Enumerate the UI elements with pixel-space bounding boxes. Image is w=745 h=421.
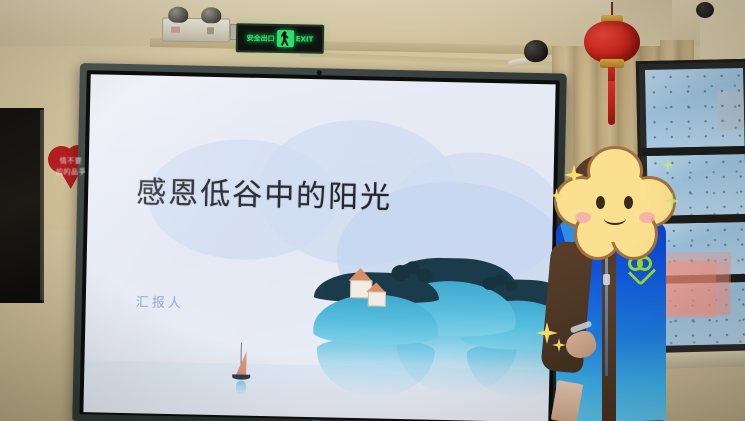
- window-view-building: [717, 90, 744, 131]
- left-panel-edge: [40, 110, 44, 300]
- slide-house-small: [366, 282, 386, 304]
- boat-hull: [232, 374, 250, 379]
- running-man-icon: [277, 30, 294, 47]
- vest-zipper-pull: [603, 274, 610, 285]
- boat-reflection: [236, 380, 246, 394]
- emergency-exit-sign: 安全出口 EXIT: [236, 23, 324, 54]
- emoji-cheek-left: [575, 212, 591, 223]
- emoji-cheek-right: [639, 212, 655, 223]
- slide-sailboat: [232, 342, 251, 388]
- flower-center: [577, 170, 653, 242]
- sparkle-icon: [662, 158, 674, 172]
- emergency-light-button: [207, 27, 214, 34]
- classroom-photo-scene: 情不要 的的品爭 安全出口 EXIT: [0, 0, 745, 421]
- window-pane-1: [645, 68, 745, 148]
- heart-sticker-line1: 情不要: [52, 156, 90, 167]
- presenter: [548, 146, 688, 421]
- display-screen[interactable]: · · · · · · ·: [83, 74, 555, 421]
- emoji-mouth: [604, 212, 626, 225]
- emergency-lamp-right: [201, 7, 221, 23]
- red-paper-lantern: [582, 2, 642, 132]
- ceiling-speaker: [696, 2, 714, 18]
- lantern-body: [584, 21, 640, 63]
- slide-title: 感恩低谷中的阳光: [136, 167, 393, 217]
- emergency-light-indicator: [171, 27, 180, 33]
- left-dark-panel: [0, 108, 44, 303]
- emoji-eye-left: [596, 196, 605, 209]
- exit-sign-english-text: EXIT: [296, 35, 314, 43]
- exit-sign-chinese-text: 安全出口: [247, 34, 275, 42]
- slide-subtitle: 汇报人: [136, 291, 184, 311]
- interactive-flat-panel[interactable]: · · · · · · ·: [72, 63, 567, 421]
- lantern-cord: [611, 2, 613, 16]
- flower-emoji-sticker: [554, 146, 676, 264]
- heart-sticker-line2: 的的品爭: [52, 167, 90, 178]
- display-camera-icon: [317, 70, 322, 75]
- lantern-tassel: [608, 81, 615, 125]
- boat-mast: [240, 343, 241, 365]
- presentation-slide: · · · · · · ·: [83, 74, 555, 421]
- house-wall: [368, 292, 386, 307]
- emergency-lamp-left: [168, 7, 188, 23]
- emoji-eye-right: [624, 196, 633, 209]
- emergency-light: [162, 17, 230, 42]
